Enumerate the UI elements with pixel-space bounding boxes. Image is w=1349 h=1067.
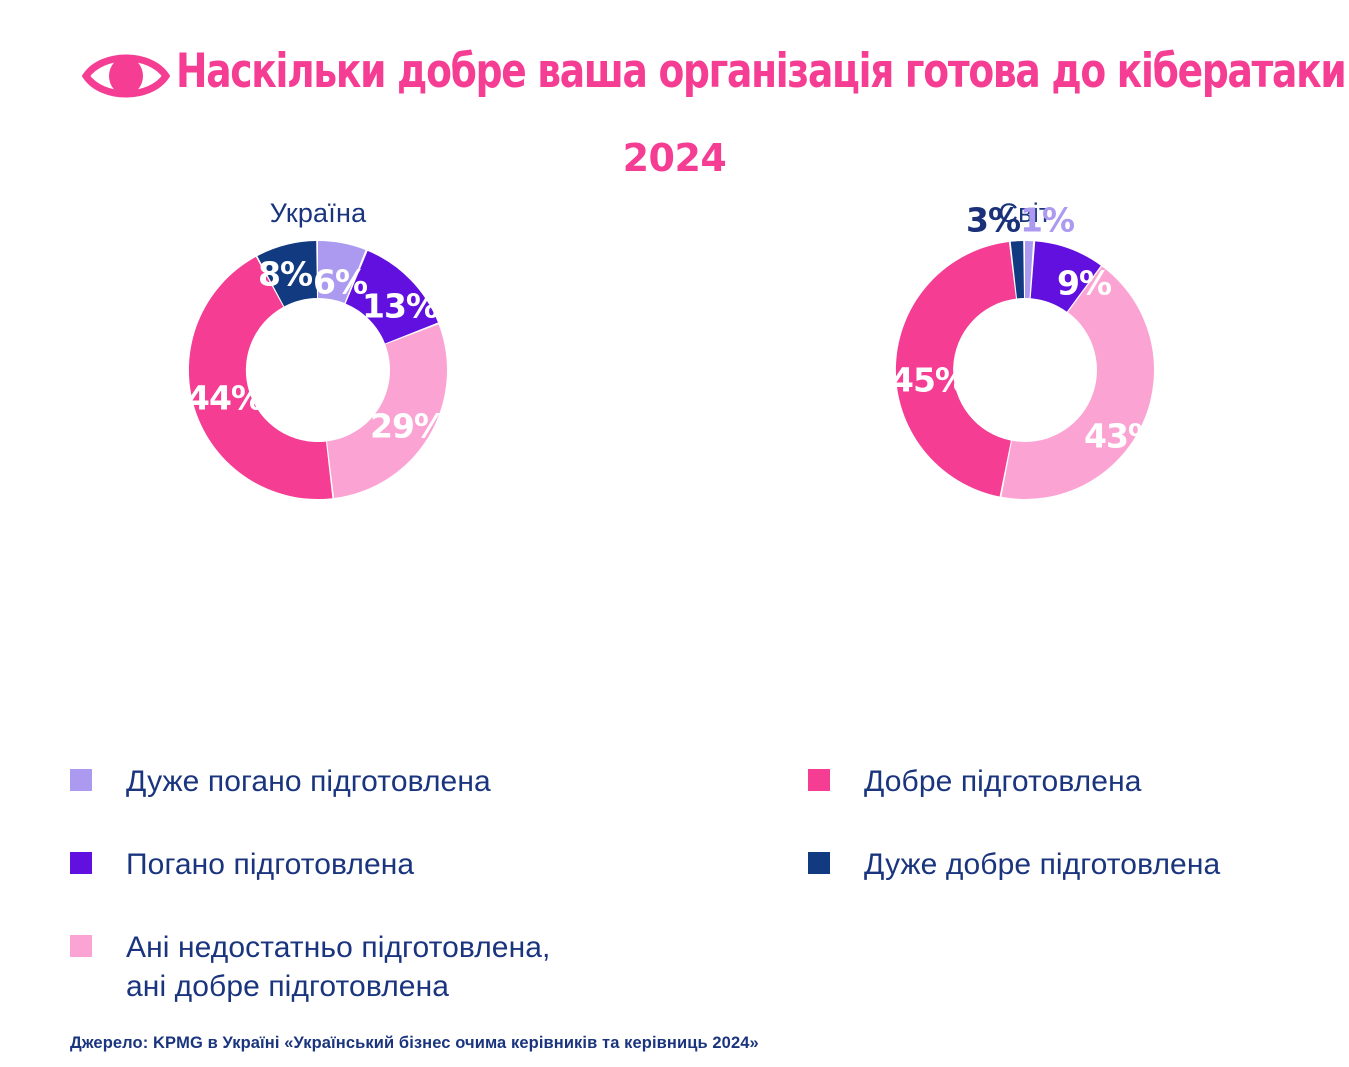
legend-item-very-poor[interactable]: Дуже погано підготовлена: [70, 762, 710, 801]
page-year: 2024: [0, 136, 1349, 180]
donut-label-well: 45%: [891, 361, 968, 400]
legend-swatch-poor: [70, 852, 92, 874]
legend-left-column: Дуже погано підготовлена Погано підготов…: [70, 762, 710, 1006]
donut-label-poor: 9%: [1057, 264, 1112, 303]
legend-swatch-well: [808, 769, 830, 791]
donut-label-neither: 43%: [1084, 417, 1161, 456]
legend-right-column: Добре підготовлена Дуже добре підготовле…: [808, 762, 1349, 928]
eye-icon: [80, 47, 172, 105]
legend-label-well: Добре підготовлена: [864, 762, 1142, 801]
legend-swatch-very-poor: [70, 769, 92, 791]
header: Наскільки добре ваша організація готова …: [0, 0, 1349, 190]
donut-svg-world: 1% 9% 43% 45% 3%: [725, 220, 1325, 520]
legend-label-poor: Погано підготовлена: [126, 845, 414, 884]
source-note: Джерело: KPMG в Україні «Український біз…: [70, 1034, 759, 1053]
chart-panel-world: Світ 1% 9% 43% 45% 3%: [725, 190, 1325, 750]
legend-label-very-poor: Дуже погано підготовлена: [126, 762, 491, 801]
legend-label-very-well: Дуже добре підготовлена: [864, 845, 1220, 884]
donut-label-well: 44%: [187, 379, 264, 418]
donut-label-very-poor: 1%: [1020, 201, 1075, 240]
donut-chart-ukraine: 6% 13% 29% 44% 8%: [18, 220, 618, 740]
donut-label-very-well: 8%: [258, 255, 313, 294]
chart-panel-ukraine: Україна 6% 13% 29% 44% 8%: [18, 190, 618, 750]
donut-label-very-poor: 6%: [313, 263, 368, 302]
legend-item-well[interactable]: Добре підготовлена: [808, 762, 1349, 801]
legend-swatch-neither: [70, 935, 92, 957]
legend-item-neither[interactable]: Ані недостатньо підготовлена, ані добре …: [70, 928, 710, 1006]
legend-item-poor[interactable]: Погано підготовлена: [70, 845, 710, 884]
page-title: Наскільки добре ваша організація готова …: [176, 44, 1064, 100]
legend-label-neither: Ані недостатньо підготовлена, ані добре …: [126, 928, 550, 1006]
donut-label-very-well: 3%: [966, 201, 1021, 240]
legend-item-very-well[interactable]: Дуже добре підготовлена: [808, 845, 1349, 884]
donut-svg-ukraine: 6% 13% 29% 44% 8%: [18, 220, 618, 520]
donut-label-neither: 29%: [370, 407, 447, 446]
donut-chart-world: 1% 9% 43% 45% 3%: [725, 220, 1325, 740]
legend-swatch-very-well: [808, 852, 830, 874]
donut-label-poor: 13%: [362, 287, 439, 326]
